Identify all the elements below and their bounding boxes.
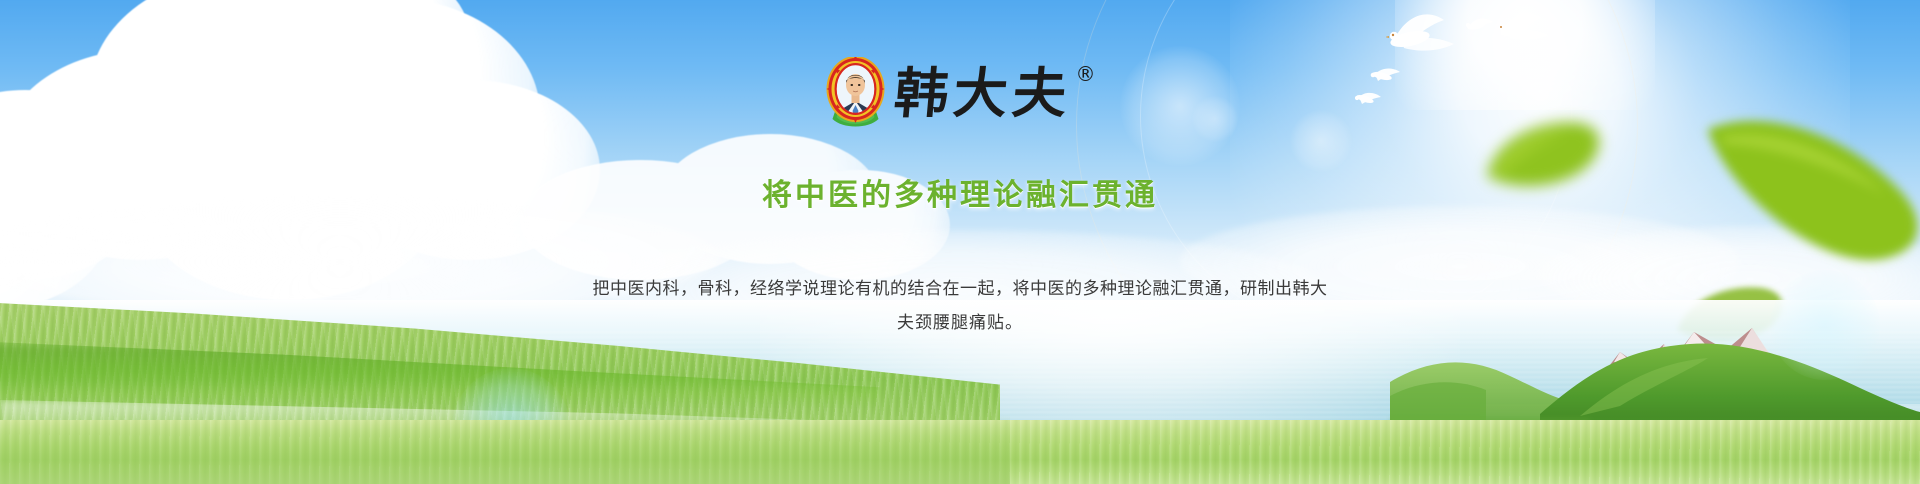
hero-banner: 韩大夫 ® 将中医的多种理论融汇贯通 把中医内科，骨科，经络学说理论有机的结合在… [0,0,1920,484]
lens-flare-blob [1120,46,1240,166]
foreground-grass-shading [0,414,1010,484]
doctor-portrait-seal-icon [825,57,887,129]
registered-trademark-icon: ® [1076,64,1096,84]
cloud-left-cumulus [0,0,660,300]
logo-text: 韩大夫 [892,62,1074,124]
description-line-2: 夫颈腰腿痛贴。 [565,306,1355,340]
sun-glare [1230,0,1850,280]
description-line-1: 把中医内科，骨科，经络学说理论有机的结合在一起，将中医的多种理论融汇贯通，研制出… [565,272,1355,306]
headline: 将中医的多种理论融汇贯通 [0,170,1920,214]
brand-logo[interactable]: 韩大夫 ® [825,58,1096,128]
description-paragraph: 把中医内科，骨科，经络学说理论有机的结合在一起，将中医的多种理论融汇贯通，研制出… [565,272,1355,340]
dove-icon [1496,8,1556,48]
lens-flare-blob [1290,110,1352,172]
sun-core-icon [1395,0,1655,110]
dove-icon [1352,86,1386,110]
lens-flare-blob [1192,96,1238,142]
dove-icon [1368,62,1406,88]
dove-icon [1386,6,1472,62]
logo-wordmark: 韩大夫 ® [895,62,1096,124]
dove-icon [1464,14,1498,36]
